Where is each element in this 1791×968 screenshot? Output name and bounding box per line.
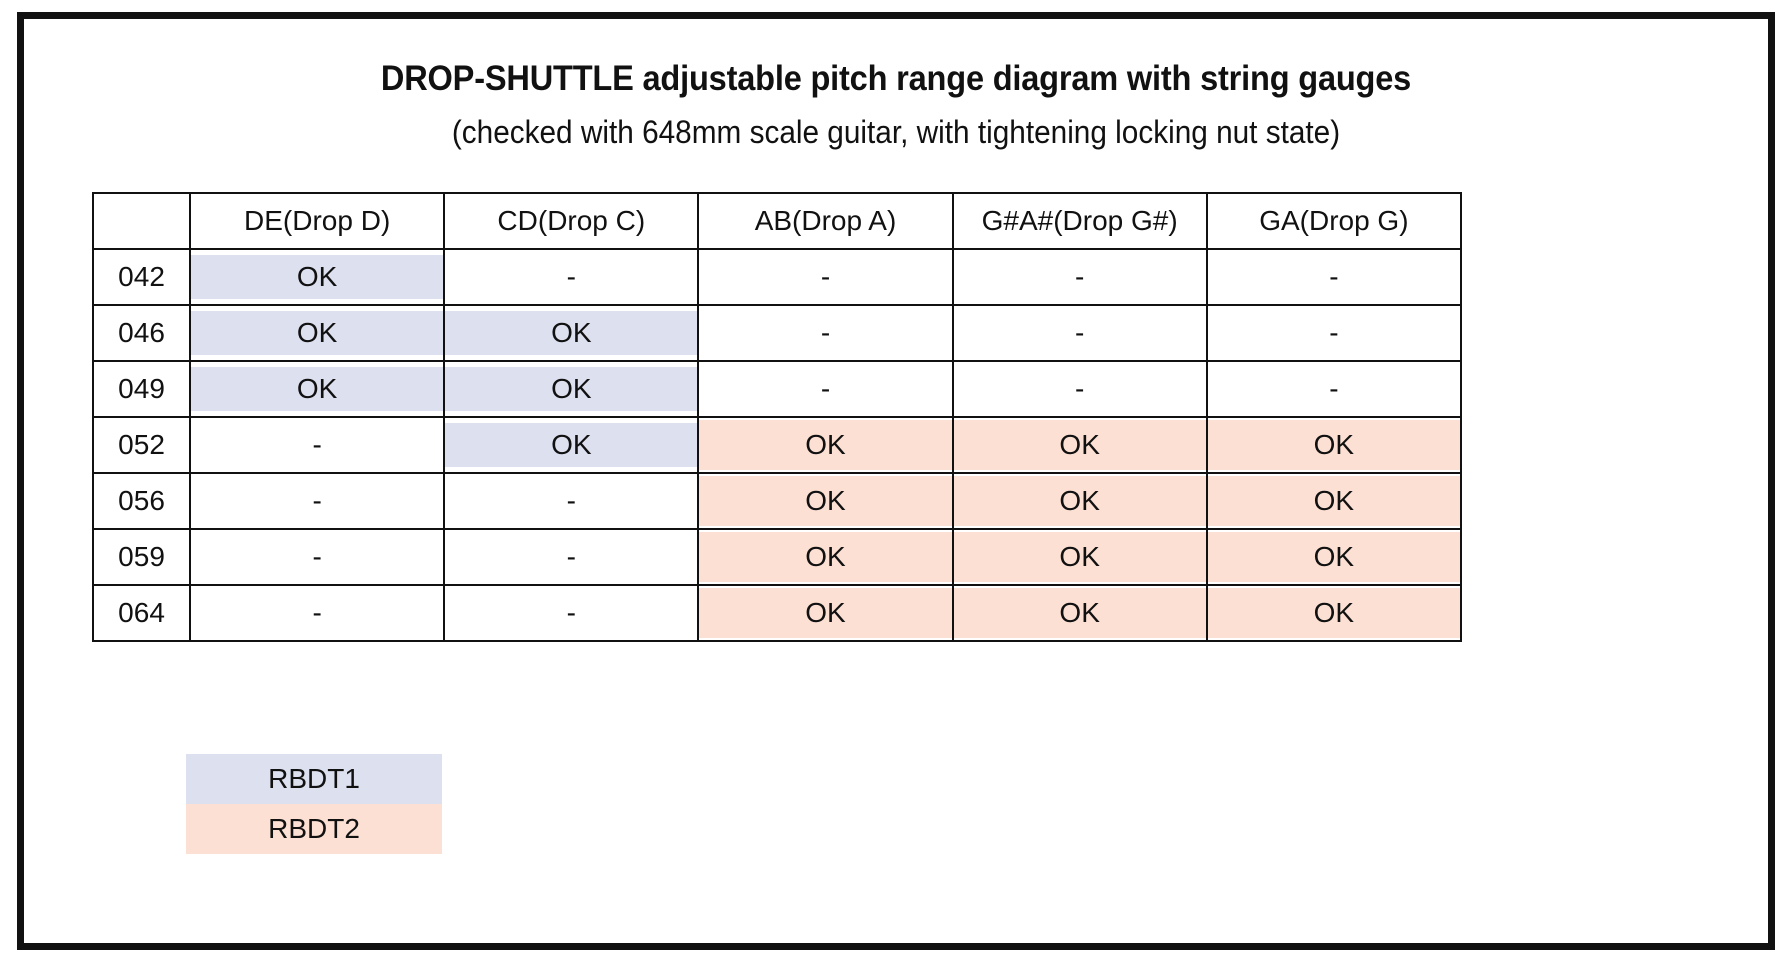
legend: RBDT1RBDT2 [186, 754, 442, 854]
table-row: 042OK---- [93, 249, 1461, 305]
status-value: OK [445, 311, 697, 355]
column-header-1: CD(Drop C) [444, 193, 698, 249]
status-cell: OK [1207, 529, 1461, 585]
gauge-label: 064 [94, 588, 189, 638]
status-cell: OK [1207, 473, 1461, 529]
table-row: 049OKOK--- [93, 361, 1461, 417]
gauge-label: 049 [94, 364, 189, 414]
status-value: OK [699, 476, 951, 526]
gauge-cell: 056 [93, 473, 190, 529]
pitch-range-table-wrapper: DE(Drop D)CD(Drop C)AB(Drop A)G#A#(Drop … [92, 192, 1462, 642]
status-cell: - [698, 305, 952, 361]
gauge-cell: 046 [93, 305, 190, 361]
status-cell: - [698, 249, 952, 305]
status-cell: OK [1207, 585, 1461, 641]
status-value: - [445, 532, 697, 582]
status-value: - [1208, 364, 1460, 414]
status-value: OK [191, 311, 443, 355]
status-value: - [191, 476, 443, 526]
status-value: - [954, 308, 1206, 358]
status-cell: OK [190, 361, 444, 417]
column-header-2: AB(Drop A) [698, 193, 952, 249]
table-head: DE(Drop D)CD(Drop C)AB(Drop A)G#A#(Drop … [93, 193, 1461, 249]
header-row: DE(Drop D)CD(Drop C)AB(Drop A)G#A#(Drop … [93, 193, 1461, 249]
status-value: OK [954, 420, 1206, 470]
status-cell: - [444, 473, 698, 529]
status-value: - [699, 252, 951, 302]
column-header-label: G#A#(Drop G#) [954, 195, 1206, 247]
status-cell: - [1207, 361, 1461, 417]
column-header-label: GA(Drop G) [1208, 195, 1460, 247]
status-value: - [954, 252, 1206, 302]
gauge-label: 056 [94, 476, 189, 526]
table-row: 056--OKOKOK [93, 473, 1461, 529]
column-header-0: DE(Drop D) [190, 193, 444, 249]
status-cell: - [1207, 305, 1461, 361]
status-cell: - [698, 361, 952, 417]
legend-label: RBDT1 [268, 763, 360, 795]
status-cell: OK [1207, 417, 1461, 473]
status-cell: OK [444, 361, 698, 417]
gauge-label: 059 [94, 532, 189, 582]
status-cell: OK [953, 417, 1207, 473]
gauge-cell: 052 [93, 417, 190, 473]
column-header-label: AB(Drop A) [699, 195, 951, 247]
status-value: - [191, 420, 443, 470]
column-header-label: CD(Drop C) [445, 195, 697, 247]
page-title: DROP-SHUTTLE adjustable pitch range diag… [85, 59, 1707, 99]
status-value: OK [954, 588, 1206, 638]
status-value: - [191, 588, 443, 638]
status-cell: OK [444, 417, 698, 473]
status-cell: - [190, 473, 444, 529]
table-row: 052-OKOKOKOK [93, 417, 1461, 473]
status-value: - [699, 364, 951, 414]
status-value: - [1208, 308, 1460, 358]
column-header-3: G#A#(Drop G#) [953, 193, 1207, 249]
column-header-label: DE(Drop D) [191, 195, 443, 247]
status-cell: OK [698, 585, 952, 641]
status-cell: - [953, 305, 1207, 361]
status-value: - [954, 364, 1206, 414]
status-cell: - [1207, 249, 1461, 305]
gauge-label: 042 [94, 252, 189, 302]
header-corner-cell [93, 193, 190, 249]
status-value: OK [1208, 532, 1460, 582]
status-value: OK [445, 367, 697, 411]
table-row: 046OKOK--- [93, 305, 1461, 361]
legend-item-rbdt2: RBDT2 [186, 804, 442, 854]
status-value: - [191, 532, 443, 582]
gauge-cell: 059 [93, 529, 190, 585]
status-cell: OK [698, 473, 952, 529]
status-value: - [445, 476, 697, 526]
status-cell: - [444, 585, 698, 641]
status-cell: OK [953, 585, 1207, 641]
header-corner-label [94, 195, 189, 247]
status-value: OK [191, 367, 443, 411]
status-value: OK [1208, 476, 1460, 526]
status-value: - [699, 308, 951, 358]
table-row: 064--OKOKOK [93, 585, 1461, 641]
status-cell: - [190, 417, 444, 473]
status-cell: OK [698, 529, 952, 585]
status-cell: - [953, 361, 1207, 417]
status-cell: OK [444, 305, 698, 361]
gauge-cell: 042 [93, 249, 190, 305]
gauge-label: 052 [94, 420, 189, 470]
gauge-cell: 049 [93, 361, 190, 417]
status-value: OK [1208, 420, 1460, 470]
status-cell: OK [190, 249, 444, 305]
table-row: 059--OKOKOK [93, 529, 1461, 585]
status-value: - [445, 252, 697, 302]
status-value: OK [954, 532, 1206, 582]
status-cell: - [190, 529, 444, 585]
gauge-label: 046 [94, 308, 189, 358]
status-cell: - [444, 529, 698, 585]
table-body: 042OK----046OKOK---049OKOK---052-OKOKOKO… [93, 249, 1461, 641]
status-cell: - [444, 249, 698, 305]
status-value: OK [445, 423, 697, 467]
status-value: - [1208, 252, 1460, 302]
status-cell: OK [698, 417, 952, 473]
status-value: OK [699, 532, 951, 582]
status-value: - [445, 588, 697, 638]
status-value: OK [699, 588, 951, 638]
legend-item-rbdt1: RBDT1 [186, 754, 442, 804]
status-cell: - [953, 249, 1207, 305]
status-cell: OK [953, 529, 1207, 585]
pitch-range-table: DE(Drop D)CD(Drop C)AB(Drop A)G#A#(Drop … [92, 192, 1462, 642]
status-cell: - [190, 585, 444, 641]
page-subtitle: (checked with 648mm scale guitar, with t… [85, 114, 1707, 151]
page-root: DROP-SHUTTLE adjustable pitch range diag… [0, 0, 1791, 968]
gauge-cell: 064 [93, 585, 190, 641]
status-value: OK [954, 476, 1206, 526]
status-cell: OK [953, 473, 1207, 529]
column-header-4: GA(Drop G) [1207, 193, 1461, 249]
content-area: DROP-SHUTTLE adjustable pitch range diag… [24, 19, 1768, 943]
status-cell: OK [190, 305, 444, 361]
status-value: OK [191, 255, 443, 299]
status-value: OK [1208, 588, 1460, 638]
status-value: OK [699, 420, 951, 470]
outer-frame: DROP-SHUTTLE adjustable pitch range diag… [17, 12, 1775, 950]
legend-label: RBDT2 [268, 813, 360, 845]
